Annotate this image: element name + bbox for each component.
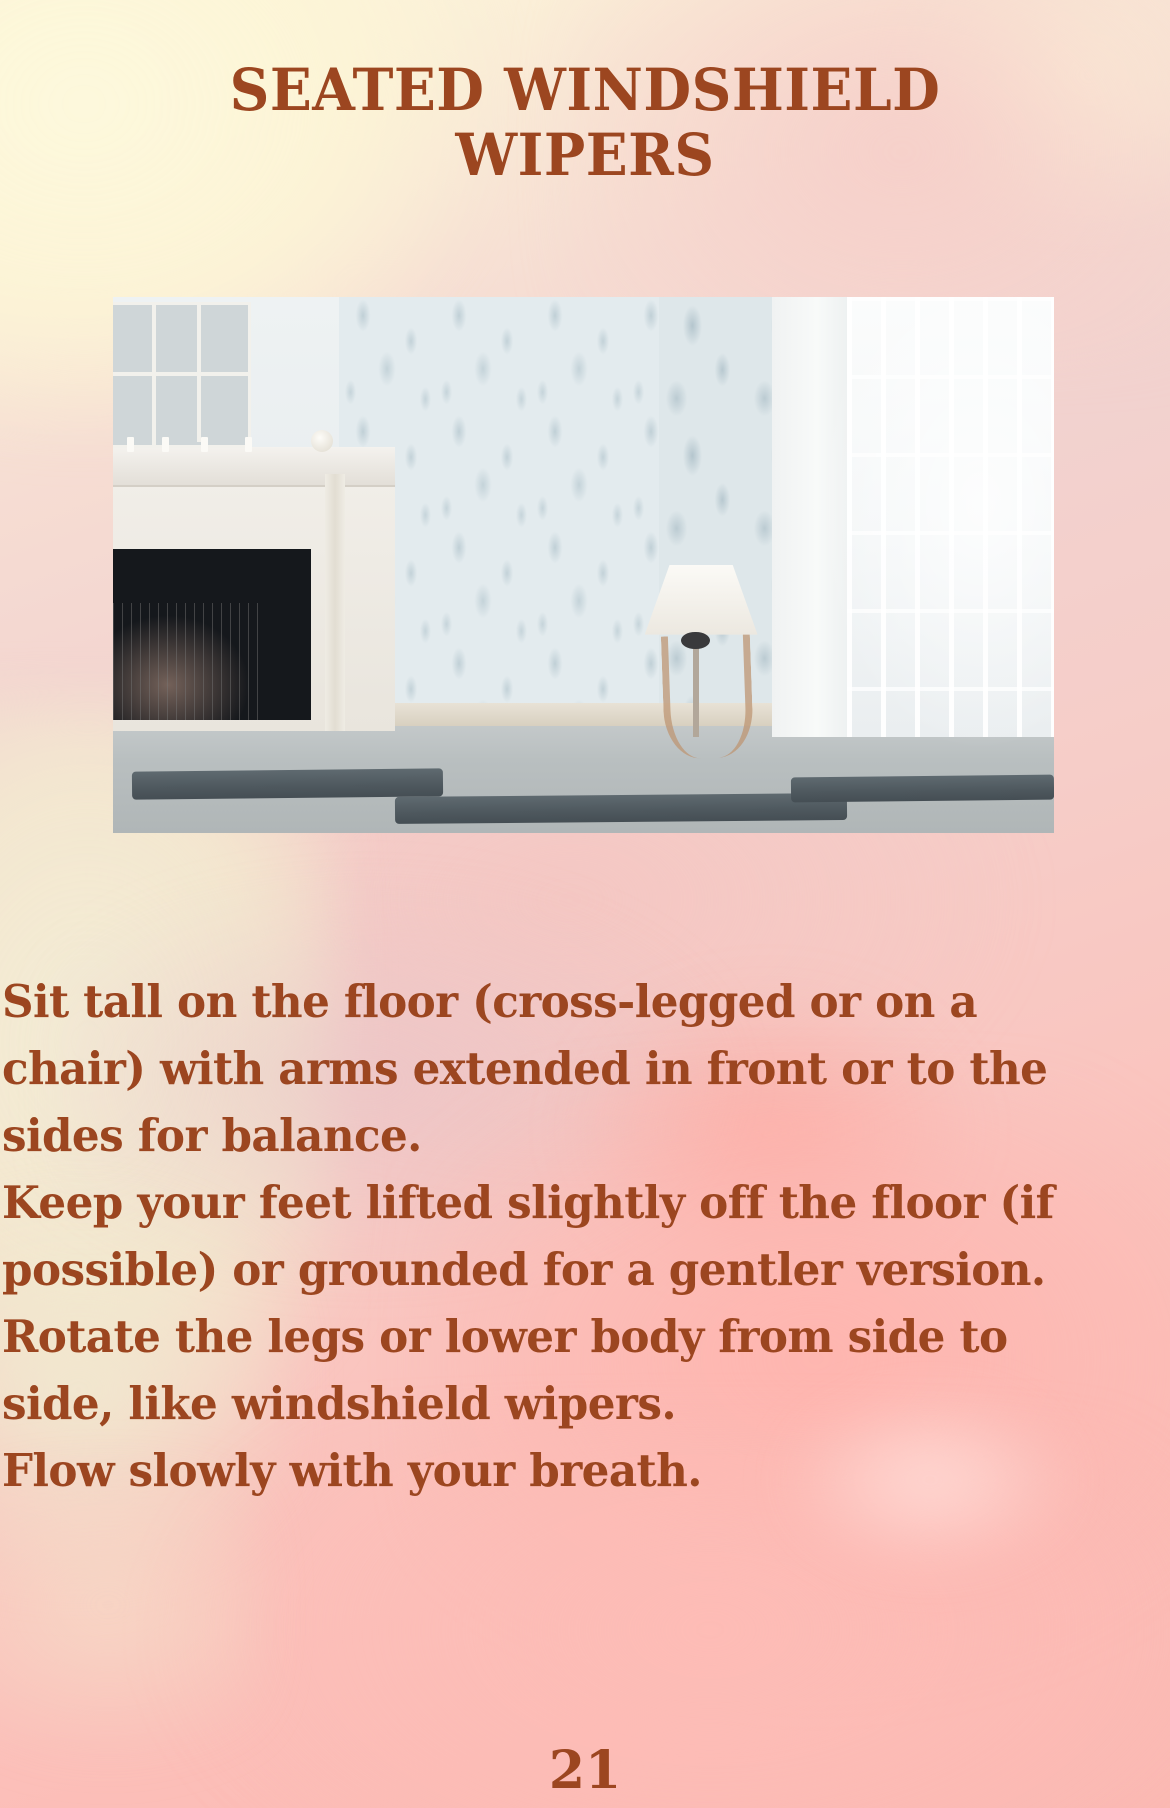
exercise-page: SEATED WINDSHIELD WIPERS bbox=[0, 0, 1170, 1808]
instruction-line: Sit tall on the floor (cross-legged or o… bbox=[2, 968, 1133, 1035]
page-background bbox=[0, 0, 1170, 1808]
yoga-mat-left bbox=[132, 769, 443, 800]
exercise-photo bbox=[113, 297, 1054, 833]
instruction-line: chair) with arms extended in front or to… bbox=[2, 1035, 1133, 1102]
fireplace-mantel bbox=[113, 447, 395, 487]
yoga-mat-center bbox=[395, 794, 847, 825]
yoga-mat-right bbox=[790, 775, 1054, 802]
upper-window-mullion bbox=[113, 302, 245, 441]
mantel-vase bbox=[311, 430, 333, 452]
mantel-objects bbox=[122, 431, 367, 452]
window-glow bbox=[809, 297, 1054, 758]
candle-3 bbox=[201, 437, 208, 452]
instruction-line: side, like windshield wipers. bbox=[2, 1370, 1133, 1437]
page-title-line-1: SEATED WINDSHIELD bbox=[0, 56, 1170, 125]
candle-1 bbox=[127, 437, 134, 452]
instructions-block: Sit tall on the floor (cross-legged or o… bbox=[2, 968, 1168, 1504]
instruction-line: Keep your feet lifted slightly off the f… bbox=[2, 1169, 1133, 1236]
lamp-strap bbox=[661, 633, 755, 759]
page-title-line-2: WIPERS bbox=[0, 121, 1170, 190]
lamp-knob bbox=[681, 632, 709, 649]
candle-4 bbox=[245, 437, 252, 452]
wall-column-trim bbox=[325, 474, 346, 731]
fireplace-screen bbox=[113, 603, 264, 721]
page-title: SEATED WINDSHIELD WIPERS bbox=[0, 58, 1170, 188]
instruction-line: possible) or grounded for a gentler vers… bbox=[2, 1236, 1133, 1303]
instruction-line: Rotate the legs or lower body from side … bbox=[2, 1303, 1133, 1370]
photo-scene bbox=[113, 297, 1054, 833]
instruction-line: sides for balance. bbox=[2, 1102, 1133, 1169]
candle-2 bbox=[162, 437, 169, 452]
instruction-line: Flow slowly with your breath. bbox=[2, 1437, 1133, 1504]
page-number: 21 bbox=[0, 1740, 1170, 1801]
